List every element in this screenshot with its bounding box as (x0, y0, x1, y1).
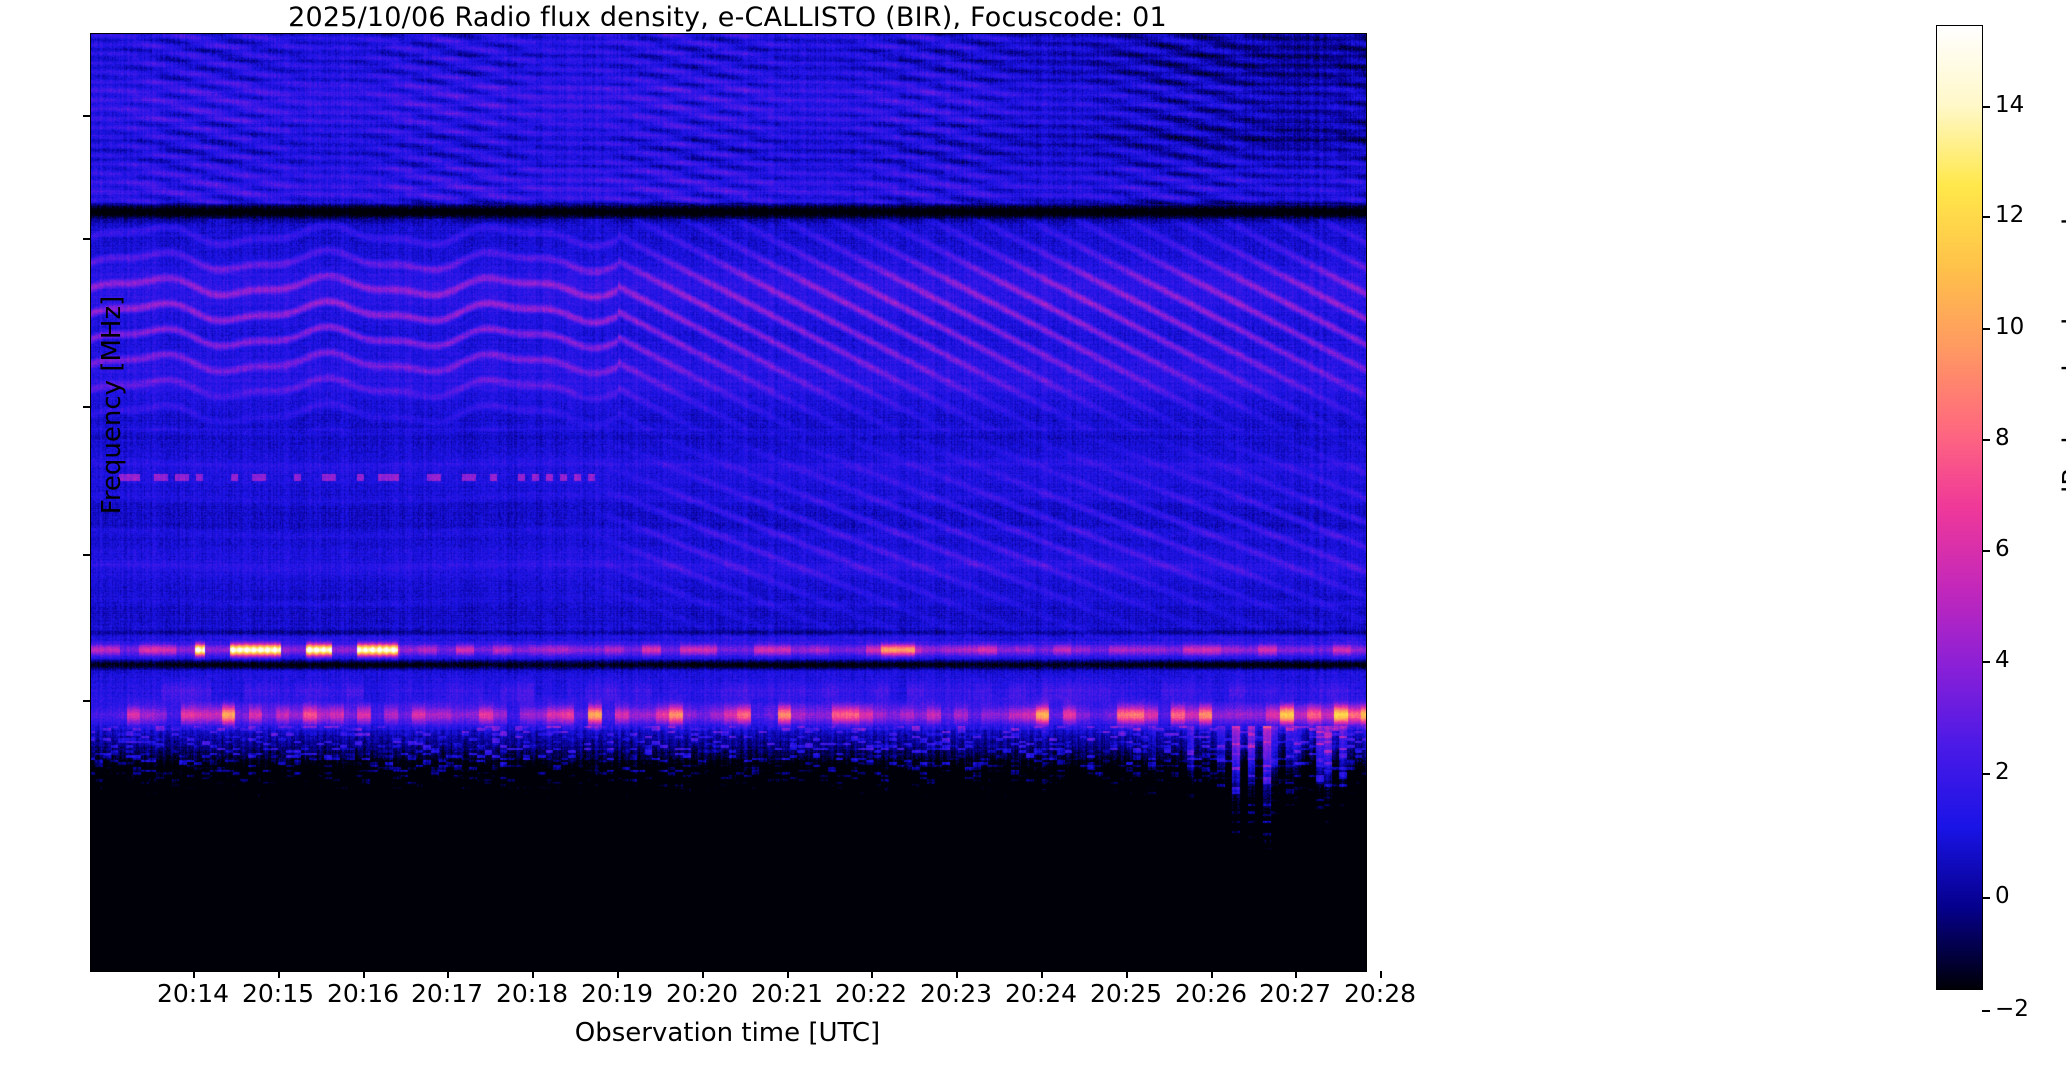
colorbar[interactable] (1936, 25, 1983, 990)
colorbar-tick-mark (1982, 550, 1990, 552)
colorbar-tick-label: 2 (1995, 761, 2066, 784)
x-tick-label: 20:28 (1300, 981, 1460, 1007)
x-tick-mark (1126, 971, 1128, 978)
colorbar-tick-mark (1982, 773, 1990, 775)
y-tick-mark (83, 406, 90, 408)
colorbar-tick-label: 0 (1995, 885, 2066, 908)
colorbar-tick-mark (1982, 439, 1990, 441)
x-tick-mark (956, 971, 958, 978)
colorbar-tick-mark (1982, 661, 1990, 663)
spectrogram-axes[interactable] (90, 33, 1367, 972)
spectrogram-image (91, 34, 1366, 971)
colorbar-tick-mark (1982, 897, 1990, 899)
colorbar-tick-label: 12 (1995, 204, 2066, 227)
x-tick-mark (1380, 971, 1382, 978)
colorbar-label: dB above background (2058, 195, 2066, 525)
colorbar-gradient (1937, 26, 1982, 989)
x-tick-mark (1041, 971, 1043, 978)
x-tick-mark (787, 971, 789, 978)
x-tick-mark (702, 971, 704, 978)
y-tick-mark (83, 115, 90, 117)
colorbar-tick-label: 14 (1995, 94, 2066, 117)
y-axis-label: Frequency [MHz] (97, 285, 127, 525)
colorbar-tick-mark (1982, 1010, 1990, 1012)
x-tick-mark (193, 971, 195, 978)
colorbar-tick-mark (1982, 216, 1990, 218)
y-tick-mark (83, 238, 90, 240)
page-title: 2025/10/06 Radio flux density, e-CALLIST… (0, 3, 1455, 33)
x-tick-mark (617, 971, 619, 978)
colorbar-tick-label: 10 (1995, 316, 2066, 339)
x-tick-mark (278, 971, 280, 978)
x-tick-mark (447, 971, 449, 978)
x-axis-label: Observation time [UTC] (90, 1018, 1365, 1048)
colorbar-tick-label: 4 (1995, 649, 2066, 672)
colorbar-tick-mark (1982, 106, 1990, 108)
x-tick-mark (363, 971, 365, 978)
x-tick-mark (1295, 971, 1297, 978)
colorbar-tick-label: 6 (1995, 538, 2066, 561)
colorbar-tick-mark (1982, 328, 1990, 330)
colorbar-tick-label: −2 (1995, 998, 2066, 1021)
x-tick-mark (871, 971, 873, 978)
x-tick-mark (532, 971, 534, 978)
x-tick-mark (1211, 971, 1213, 978)
y-tick-mark (83, 700, 90, 702)
figure-canvas: 2025/10/06 Radio flux density, e-CALLIST… (0, 0, 2066, 1067)
y-tick-mark (83, 554, 90, 556)
colorbar-tick-label: 8 (1995, 427, 2066, 450)
